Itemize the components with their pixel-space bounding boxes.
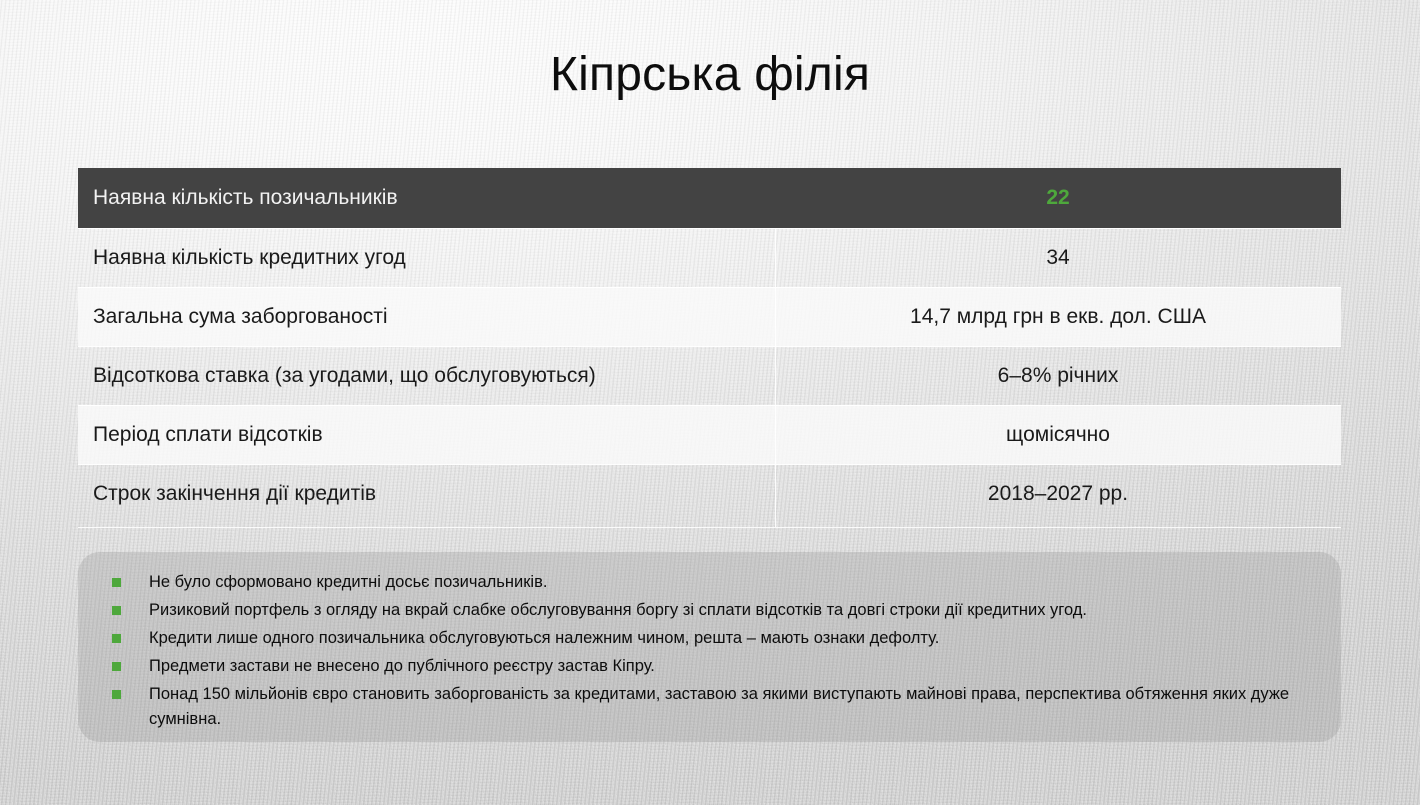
table-row-label: Відсоткова ставка (за угодами, що обслуг… [78, 364, 775, 388]
square-bullet-icon [112, 690, 121, 699]
notes-panel: Не було сформовано кредитні досьє позича… [78, 552, 1341, 742]
table-row: Строк закінчення дії кредитів2018–2027 р… [78, 464, 1341, 523]
square-bullet-icon [112, 634, 121, 643]
table-row-label: Період сплати відсотків [78, 423, 775, 447]
table-row-value: 22 [775, 186, 1341, 210]
table-row-value: 2018–2027 рр. [775, 482, 1341, 506]
table-row: Період сплати відсотківщомісячно [78, 405, 1341, 464]
slide-canvas: Кіпрська філія Наявна кількість позичаль… [0, 0, 1420, 805]
table-row-label: Загальна сума заборгованості [78, 305, 775, 329]
square-bullet-icon [112, 662, 121, 671]
page-title: Кіпрська філія [0, 48, 1420, 102]
table-row-value: 14,7 млрд грн в екв. дол. США [775, 305, 1341, 329]
table-row: Наявна кількість кредитних угод34 [78, 228, 1341, 287]
list-item: Понад 150 мільйонів євро становить забор… [112, 682, 1315, 732]
list-item: Ризиковий портфель з огляду на вкрай сла… [112, 598, 1315, 623]
table-row: Відсоткова ставка (за угодами, що обслуг… [78, 346, 1341, 405]
list-item: Кредити лише одного позичальника обслуго… [112, 626, 1315, 651]
list-item-text: Не було сформовано кредитні досьє позича… [149, 570, 1315, 595]
table-row-value: 34 [775, 246, 1341, 270]
table-row-value: щомісячно [775, 423, 1341, 447]
square-bullet-icon [112, 606, 121, 615]
list-item-text: Кредити лише одного позичальника обслуго… [149, 626, 1315, 651]
table-row: Загальна сума заборгованості14,7 млрд гр… [78, 287, 1341, 346]
table-row-label: Строк закінчення дії кредитів [78, 482, 775, 506]
square-bullet-icon [112, 578, 121, 587]
table-bottom-rule [78, 527, 1341, 528]
facts-table: Наявна кількість позичальників22Наявна к… [78, 168, 1341, 523]
table-row-label: Наявна кількість кредитних угод [78, 246, 775, 270]
list-item: Не було сформовано кредитні досьє позича… [112, 570, 1315, 595]
table-row-label: Наявна кількість позичальників [78, 186, 775, 210]
column-divider [775, 228, 776, 527]
list-item-text: Предмети застави не внесено до публічног… [149, 654, 1315, 679]
list-item-text: Понад 150 мільйонів євро становить забор… [149, 682, 1315, 732]
list-item-text: Ризиковий портфель з огляду на вкрай сла… [149, 598, 1315, 623]
table-row: Наявна кількість позичальників22 [78, 168, 1341, 228]
table-row-value: 6–8% річних [775, 364, 1341, 388]
list-item: Предмети застави не внесено до публічног… [112, 654, 1315, 679]
